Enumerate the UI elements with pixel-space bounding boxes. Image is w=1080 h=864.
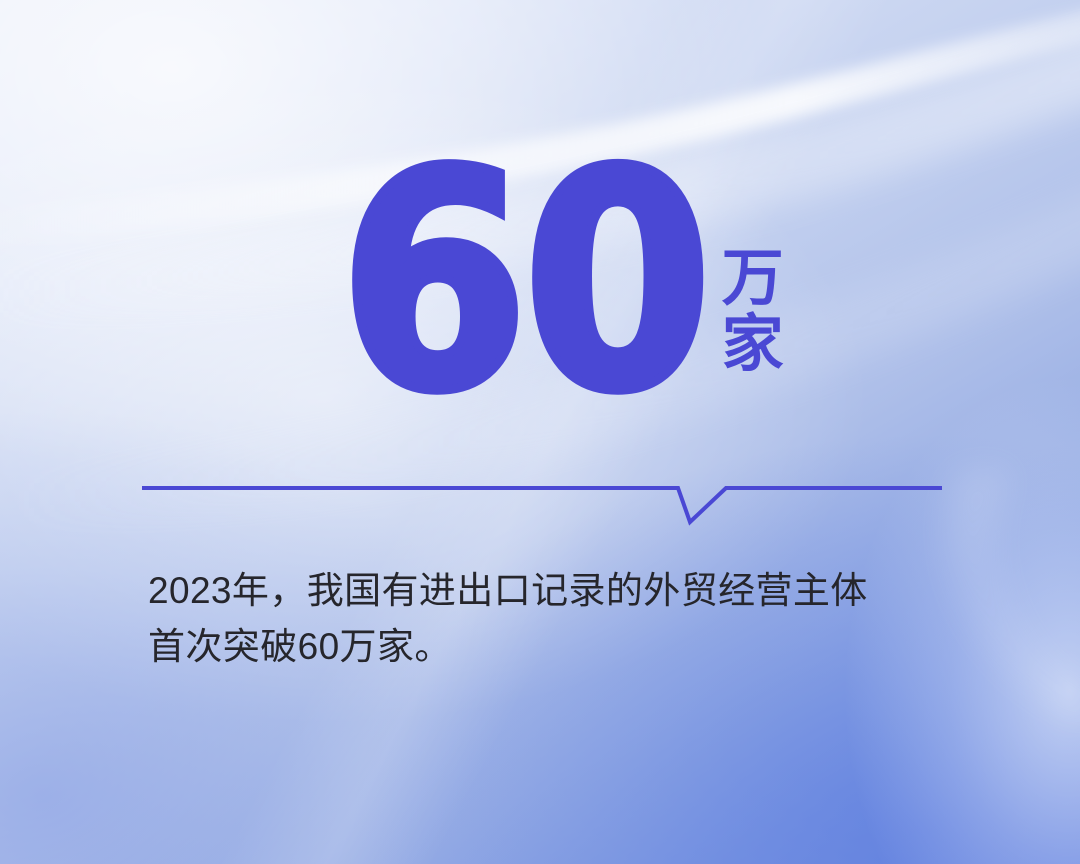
caption-line-2: 首次突破60万家。	[148, 619, 978, 675]
hero-number-value: 60	[340, 160, 708, 406]
caption-line-1: 2023年，我国有进出口记录的外贸经营主体	[148, 563, 978, 619]
hero-statistic: 60 万 家	[340, 160, 784, 406]
caption-text: 2023年，我国有进出口记录的外贸经营主体 首次突破60万家。	[148, 563, 978, 675]
hero-unit-line-2: 家	[722, 312, 784, 378]
infographic-poster: 60 万 家 2023年，我国有进出口记录的外贸经营主体 首次突破60万家。	[0, 0, 1080, 864]
divider-with-notch	[140, 474, 944, 534]
hero-unit-line-1: 万	[722, 246, 784, 312]
hero-unit: 万 家	[722, 246, 784, 377]
